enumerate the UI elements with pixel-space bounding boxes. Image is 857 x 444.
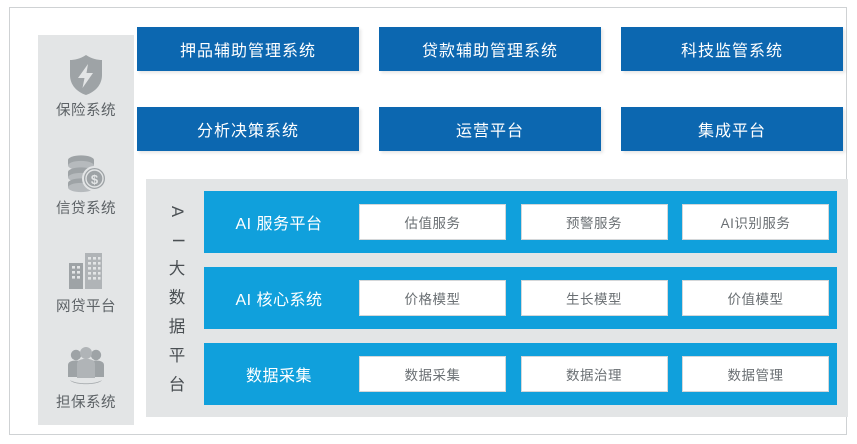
shield-bolt-icon [38,53,134,99]
platform-row-title: 数据采集 [204,343,354,405]
platform-row-cards: 估值服务 预警服务 AI识别服务 [359,204,829,240]
system-box-label: 科技监管系统 [681,37,783,61]
diagram-frame: 保险系统 $ [9,7,847,435]
sidebar-item-label: 信贷系统 [38,200,134,218]
platform-row-cards: 数据采集 数据治理 数据管理 [359,356,829,392]
platform-row-data-collection: 数据采集 数据采集 数据治理 数据管理 [204,343,837,405]
people-group-icon [38,345,134,391]
system-box-tech-supervision[interactable]: 科技监管系统 [621,27,843,71]
svg-text:$: $ [91,172,99,187]
vertical-label-char: 平 [169,343,186,370]
platform-row-cards: 价格模型 生长模型 价值模型 [359,280,829,316]
vertical-label-char: 大 [169,256,186,283]
sidebar-item-label: 保险系统 [38,102,134,120]
system-box-pledge-mgmt[interactable]: 押品辅助管理系统 [137,27,359,71]
system-box-analysis-decision[interactable]: 分析决策系统 [137,107,359,151]
platform-card[interactable]: 价格模型 [359,280,506,316]
system-box-label: 贷款辅助管理系统 [422,37,558,61]
system-box-label: 集成平台 [698,117,766,141]
vertical-label-char: A [163,205,190,216]
system-box-label: 分析决策系统 [197,117,299,141]
sidebar-item-label: 网贷平台 [38,298,134,316]
platform-row-title: AI 核心系统 [204,267,354,329]
sidebar-item-label: 担保系统 [38,394,134,412]
platform-card[interactable]: 生长模型 [521,280,668,316]
system-box-loan-mgmt[interactable]: 贷款辅助管理系统 [379,27,601,71]
buildings-icon [38,249,134,295]
sidebar-item-credit[interactable]: $ 信贷系统 [38,151,134,218]
platform-card[interactable]: 价值模型 [682,280,829,316]
sidebar: 保险系统 $ [38,35,134,425]
platform-card[interactable]: 估值服务 [359,204,506,240]
ai-bigdata-platform-panel: A I 大 数 据 平 台 AI 服务平台 估值服务 预警服务 AI识别服务 A… [146,179,848,417]
platform-row-title: AI 服务平台 [204,191,354,253]
vertical-label-char: 台 [169,372,186,399]
platform-card[interactable]: 数据治理 [521,356,668,392]
sidebar-item-guarantee[interactable]: 担保系统 [38,345,134,412]
platform-card[interactable]: 数据采集 [359,356,506,392]
architecture-diagram: 保险系统 $ [0,0,857,444]
system-box-label: 运营平台 [456,117,524,141]
platform-card[interactable]: 预警服务 [521,204,668,240]
sidebar-item-insurance[interactable]: 保险系统 [38,53,134,120]
system-box-integration-platform[interactable]: 集成平台 [621,107,843,151]
sidebar-item-online-loan[interactable]: 网贷平台 [38,249,134,316]
platform-card[interactable]: 数据管理 [682,356,829,392]
coins-stack-icon: $ [38,151,134,197]
vertical-label-char: 数 [169,285,186,312]
platform-row-ai-core: AI 核心系统 价格模型 生长模型 价值模型 [204,267,837,329]
vertical-label-char: 据 [169,314,186,341]
platform-row-ai-service: AI 服务平台 估值服务 预警服务 AI识别服务 [204,191,837,253]
system-box-label: 押品辅助管理系统 [180,37,316,61]
platform-vertical-label: A I 大 数 据 平 台 [156,191,198,405]
platform-card[interactable]: AI识别服务 [682,204,829,240]
system-box-operation-platform[interactable]: 运营平台 [379,107,601,151]
vertical-label-char: I [164,238,191,243]
